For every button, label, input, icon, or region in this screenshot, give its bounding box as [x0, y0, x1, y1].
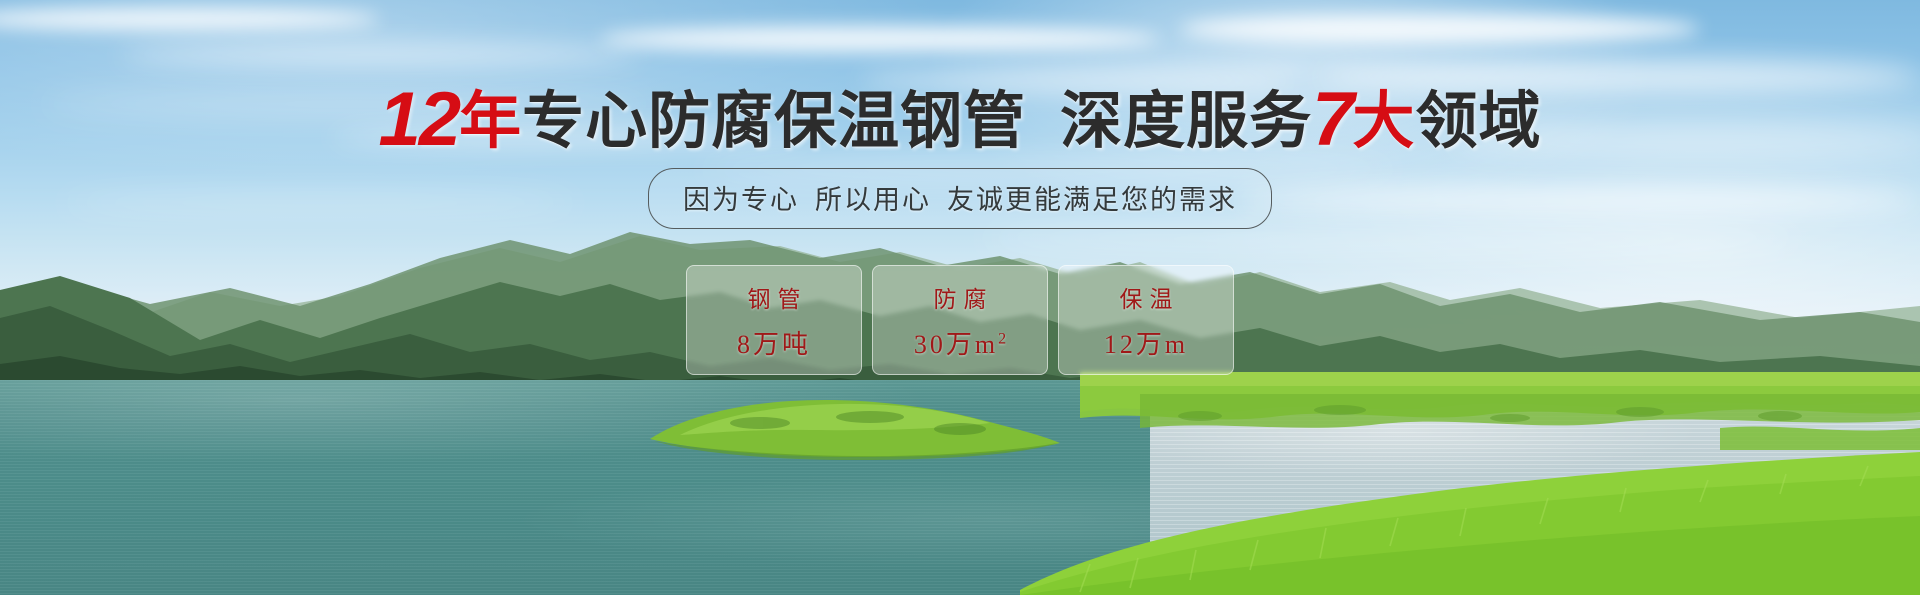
- headline-main: 专心防腐保温钢管: [522, 87, 1026, 156]
- stat-card-label: 防腐: [927, 280, 994, 314]
- page-title: 12年专心防腐保温钢管深度服务7大领域: [0, 82, 1920, 158]
- stat-card-value: 8万吨: [737, 324, 811, 361]
- stat-card-insulation: 保温 12万m: [1058, 265, 1234, 375]
- subtitle-part-1: 因为专心: [683, 185, 799, 215]
- stat-value-text: 12万m: [1104, 330, 1188, 359]
- subtitle-part-2: 所以用心: [815, 185, 931, 215]
- stat-value-text: 8万吨: [737, 330, 811, 359]
- headline-fields-unit: 大: [1352, 87, 1415, 156]
- headline-fields-number: 7: [1312, 77, 1352, 162]
- stat-card-label: 钢管: [741, 280, 808, 314]
- headline-years-unit: 年: [459, 87, 522, 156]
- stat-card-steel-pipe: 钢管 8万吨: [686, 265, 862, 375]
- headline-second: 深度服务: [1060, 87, 1312, 156]
- subtitle-part-3: 友诚更能满足您的需求: [947, 185, 1237, 215]
- headline-years-number: 12: [379, 77, 460, 162]
- stat-card-value: 30万m2: [914, 324, 1006, 361]
- stat-card-label: 保温: [1113, 280, 1180, 314]
- stat-value-text: 30万m: [914, 330, 998, 359]
- foreground-grass: [1020, 440, 1920, 595]
- subtitle-pill: 因为专心所以用心友诚更能满足您的需求: [648, 168, 1272, 229]
- stat-card-anticorrosion: 防腐 30万m2: [872, 265, 1048, 375]
- lake-islet: [640, 385, 1070, 460]
- hero-banner: 12年专心防腐保温钢管深度服务7大领域 因为专心所以用心友诚更能满足您的需求 钢…: [0, 0, 1920, 595]
- headline-tail: 领域: [1415, 87, 1541, 156]
- stat-card-group: 钢管 8万吨 防腐 30万m2 保温 12万m: [0, 265, 1920, 375]
- stat-card-value: 12万m: [1104, 324, 1188, 361]
- stat-value-superscript: 2: [998, 330, 1006, 347]
- subtitle-container: 因为专心所以用心友诚更能满足您的需求: [0, 168, 1920, 229]
